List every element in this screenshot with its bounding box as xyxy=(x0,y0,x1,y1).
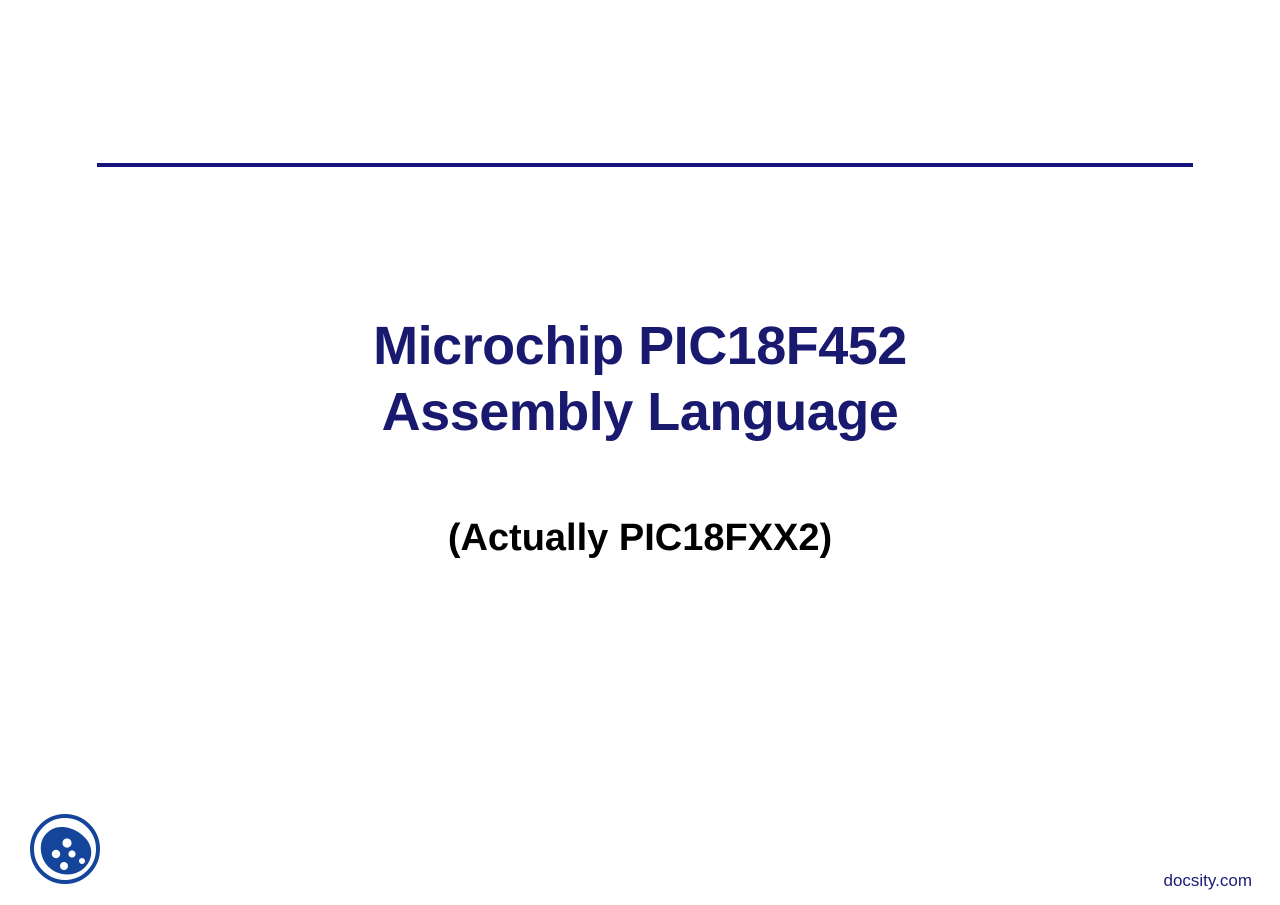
slide-title: Microchip PIC18F452 Assembly Language xyxy=(0,313,1280,445)
docsity-watermark: docsity.com xyxy=(1164,871,1253,891)
top-divider-rule xyxy=(97,163,1193,167)
subtitle-text: (Actually PIC18FXX2) xyxy=(0,515,1280,561)
docsity-logo-icon xyxy=(26,810,104,888)
slide-subtitle: (Actually PIC18FXX2) xyxy=(0,515,1280,561)
title-line-2: Assembly Language xyxy=(0,379,1280,445)
presentation-slide: Microchip PIC18F452 Assembly Language (A… xyxy=(0,0,1280,905)
title-line-1: Microchip PIC18F452 xyxy=(0,313,1280,379)
